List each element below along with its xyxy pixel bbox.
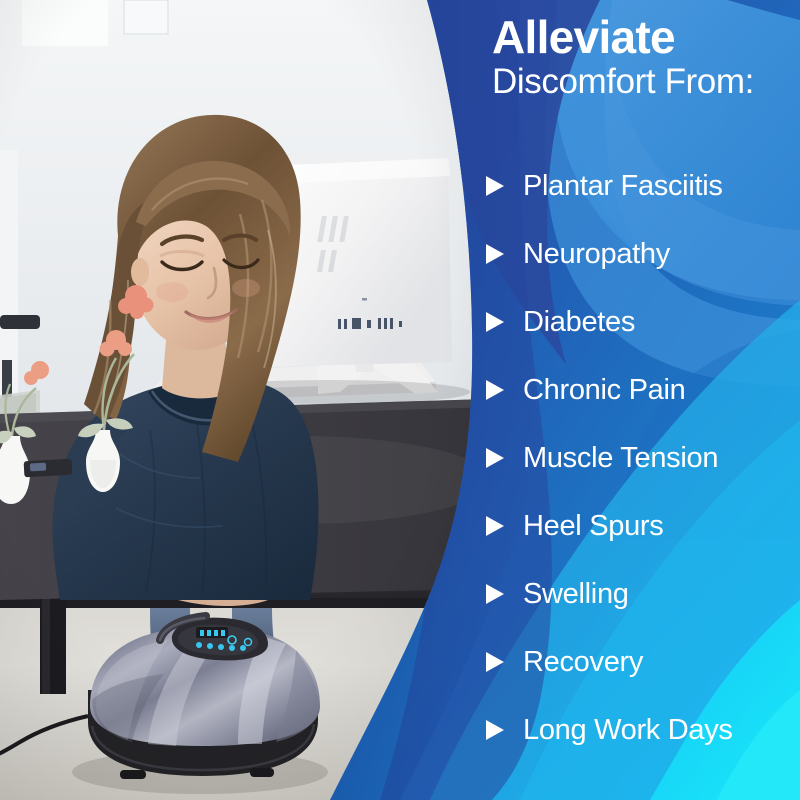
list-item[interactable]: Muscle Tension	[485, 424, 800, 492]
benefit-label: Diabetes	[523, 306, 635, 338]
play-triangle-icon	[485, 719, 505, 741]
list-item[interactable]: Swelling	[485, 560, 800, 628]
list-item[interactable]: Long Work Days	[485, 696, 800, 764]
play-triangle-icon	[485, 583, 505, 605]
play-triangle-icon	[485, 379, 505, 401]
benefit-list: Plantar Fasciitis Neuropathy Diabetes Ch…	[485, 152, 800, 764]
page-subtitle: Discomfort From:	[492, 60, 792, 104]
play-triangle-icon	[485, 243, 505, 265]
list-item[interactable]: Recovery	[485, 628, 800, 696]
list-item[interactable]: Diabetes	[485, 288, 800, 356]
list-item[interactable]: Chronic Pain	[485, 356, 800, 424]
page-title: Alleviate	[492, 14, 792, 60]
benefit-label: Recovery	[523, 646, 643, 678]
play-triangle-icon	[485, 515, 505, 537]
play-triangle-icon	[485, 651, 505, 673]
benefit-label: Chronic Pain	[523, 374, 685, 406]
list-item[interactable]: Heel Spurs	[485, 492, 800, 560]
benefit-label: Swelling	[523, 578, 629, 610]
promo-banner: Alleviate Discomfort From: Plantar Fasci…	[0, 0, 800, 800]
list-item[interactable]: Neuropathy	[485, 220, 800, 288]
play-triangle-icon	[485, 311, 505, 333]
benefit-label: Plantar Fasciitis	[523, 170, 723, 202]
benefit-label: Long Work Days	[523, 714, 733, 746]
list-item[interactable]: Plantar Fasciitis	[485, 152, 800, 220]
play-triangle-icon	[485, 175, 505, 197]
benefit-label: Neuropathy	[523, 238, 670, 270]
benefit-label: Muscle Tension	[523, 442, 718, 474]
headline-block: Alleviate Discomfort From:	[492, 14, 792, 104]
benefit-label: Heel Spurs	[523, 510, 663, 542]
play-triangle-icon	[485, 447, 505, 469]
